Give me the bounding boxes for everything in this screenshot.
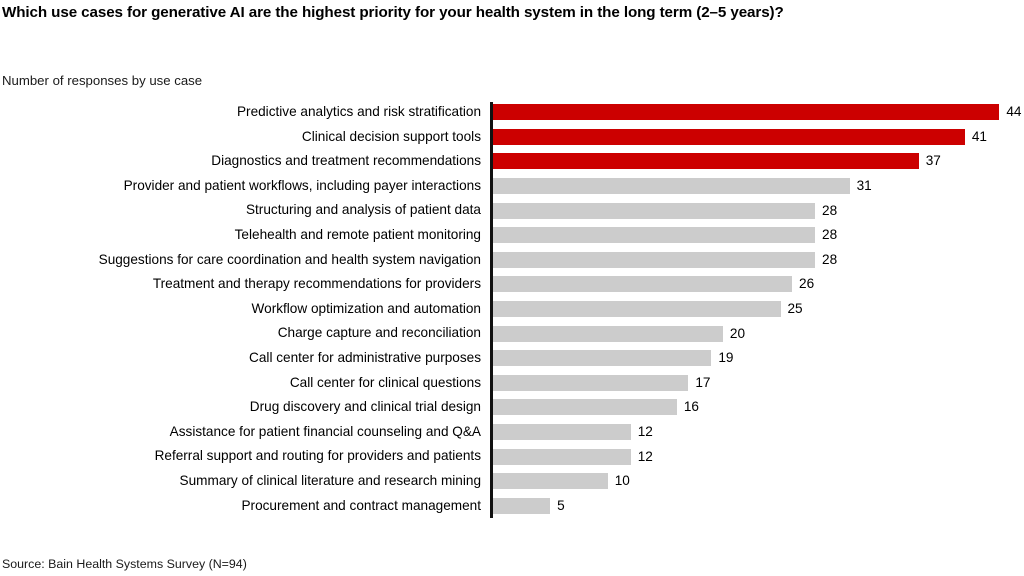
bar-category-label: Referral support and routing for provide…	[155, 444, 481, 469]
bar-row: Call center for administrative purposes1…	[0, 346, 1024, 371]
bar-container: 41	[493, 125, 987, 150]
bar-row: Drug discovery and clinical trial design…	[0, 395, 1024, 420]
bar-value-label: 28	[822, 252, 837, 268]
bar-value-label: 20	[730, 326, 745, 342]
bar-category-label: Treatment and therapy recommendations fo…	[153, 272, 481, 297]
bar-row: Clinical decision support tools41	[0, 125, 1024, 150]
bar-category-label: Summary of clinical literature and resea…	[180, 469, 481, 494]
bar	[493, 449, 631, 465]
bar	[493, 301, 781, 317]
bar-value-label: 28	[822, 203, 837, 219]
bar-container: 17	[493, 371, 711, 396]
bar-value-label: 31	[857, 178, 872, 194]
bar-value-label: 16	[684, 399, 699, 415]
bar-category-label: Structuring and analysis of patient data	[246, 198, 481, 223]
bar-container: 28	[493, 223, 838, 248]
chart-page: Which use cases for generative AI are th…	[0, 0, 1024, 576]
bar-row: Suggestions for care coordination and he…	[0, 248, 1024, 273]
bar-value-label: 44	[1006, 104, 1021, 120]
bar-row: Provider and patient workflows, includin…	[0, 174, 1024, 199]
bar-container: 12	[493, 420, 653, 445]
bar-row: Structuring and analysis of patient data…	[0, 198, 1024, 223]
bar-chart-plot: Predictive analytics and risk stratifica…	[0, 100, 1024, 520]
bar-row: Telehealth and remote patient monitoring…	[0, 223, 1024, 248]
bar	[493, 498, 551, 514]
bar-row: Procurement and contract management5	[0, 494, 1024, 519]
bar	[493, 129, 965, 145]
page-title: Which use cases for generative AI are th…	[2, 2, 1018, 23]
bar-value-label: 17	[695, 375, 710, 391]
bar	[493, 276, 793, 292]
bar-container: 31	[493, 174, 872, 199]
bar-category-label: Provider and patient workflows, includin…	[124, 174, 481, 199]
bar-category-label: Workflow optimization and automation	[252, 297, 481, 322]
bar-row: Referral support and routing for provide…	[0, 444, 1024, 469]
bar-container: 44	[493, 100, 1022, 125]
bar-category-label: Charge capture and reconciliation	[278, 321, 481, 346]
chart-subtitle: Number of responses by use case	[2, 72, 202, 89]
bar-value-label: 25	[788, 301, 803, 317]
bar-container: 10	[493, 469, 630, 494]
bar-category-label: Clinical decision support tools	[302, 125, 481, 150]
bar-row: Charge capture and reconciliation20	[0, 321, 1024, 346]
bar-value-label: 5	[557, 498, 565, 514]
bar-category-label: Suggestions for care coordination and he…	[99, 248, 481, 273]
bar-container: 12	[493, 444, 653, 469]
bar-category-label: Call center for clinical questions	[290, 371, 481, 396]
bar-row: Assistance for patient financial counsel…	[0, 420, 1024, 445]
bar-row: Call center for clinical questions17	[0, 371, 1024, 396]
bar-row: Summary of clinical literature and resea…	[0, 469, 1024, 494]
bar-category-label: Procurement and contract management	[241, 494, 481, 519]
bar-value-label: 41	[972, 129, 987, 145]
bar-category-label: Call center for administrative purposes	[249, 346, 481, 371]
bar	[493, 424, 631, 440]
bar	[493, 227, 816, 243]
bar-value-label: 10	[615, 473, 630, 489]
bar-category-label: Predictive analytics and risk stratifica…	[237, 100, 481, 125]
bar-container: 28	[493, 248, 838, 273]
bar	[493, 473, 608, 489]
bar	[493, 326, 723, 342]
bar-container: 20	[493, 321, 746, 346]
source-note: Source: Bain Health Systems Survey (N=94…	[2, 556, 247, 572]
bar-container: 28	[493, 198, 838, 223]
bar-value-label: 37	[926, 153, 941, 169]
bar-row: Diagnostics and treatment recommendation…	[0, 149, 1024, 174]
bar-rows: Predictive analytics and risk stratifica…	[0, 100, 1024, 518]
bar	[493, 375, 689, 391]
bar	[493, 203, 816, 219]
bar	[493, 399, 677, 415]
bar-container: 16	[493, 395, 699, 420]
bar-value-label: 28	[822, 227, 837, 243]
bar	[493, 252, 816, 268]
bar-category-label: Telehealth and remote patient monitoring	[235, 223, 481, 248]
bar-container: 25	[493, 297, 803, 322]
bar-container: 5	[493, 494, 565, 519]
bar	[493, 350, 712, 366]
bar	[493, 178, 850, 194]
bar-value-label: 26	[799, 276, 814, 292]
bar-container: 19	[493, 346, 734, 371]
bar-row: Treatment and therapy recommendations fo…	[0, 272, 1024, 297]
bar-container: 26	[493, 272, 815, 297]
bar-value-label: 12	[638, 424, 653, 440]
bar	[493, 153, 919, 169]
bar-row: Workflow optimization and automation25	[0, 297, 1024, 322]
bar	[493, 104, 1000, 120]
bar-category-label: Assistance for patient financial counsel…	[170, 420, 481, 445]
bar-container: 37	[493, 149, 941, 174]
bar-category-label: Drug discovery and clinical trial design	[250, 395, 481, 420]
bar-category-label: Diagnostics and treatment recommendation…	[211, 149, 481, 174]
bar-value-label: 19	[718, 350, 733, 366]
bar-row: Predictive analytics and risk stratifica…	[0, 100, 1024, 125]
bar-value-label: 12	[638, 449, 653, 465]
